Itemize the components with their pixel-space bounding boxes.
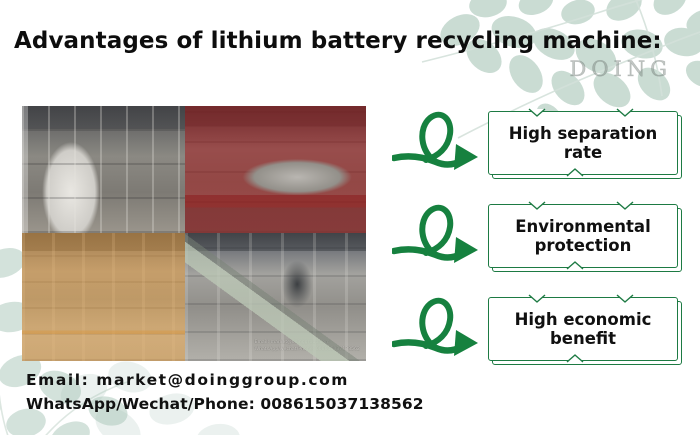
contact-email[interactable]: Email: market@doinggroup.com [26, 371, 424, 389]
advantage-row-3: High economic benefit [392, 290, 688, 383]
photo-watermark-phone: WhatsApp/wechat/Phone: 008615037138562 [255, 347, 360, 354]
page-title: Advantages of lithium battery recycling … [14, 28, 662, 54]
advantage-box-1[interactable]: High separation rate [488, 111, 680, 177]
advantage-box-2[interactable]: Environmental protection [488, 204, 680, 270]
brand-watermark: DOING [570, 57, 673, 81]
advantage-label: High economic benefit [489, 310, 677, 348]
collage-photo-rotary-drum-on-truck [185, 106, 366, 233]
collage-photo-conveyor-sorting-line: Email: market@doinggroup.com WhatsApp/we… [185, 233, 366, 361]
collage-photo-workshop-equipment-left [22, 106, 185, 233]
curly-loop-arrow-icon [392, 296, 484, 368]
advantage-label: High separation rate [489, 124, 677, 162]
contact-phone[interactable]: WhatsApp/Wechat/Phone: 008615037138562 [26, 395, 424, 413]
photo-collage: Email: market@doinggroup.com WhatsApp/we… [22, 106, 366, 361]
advantage-list: High separation rate Environmental prote… [392, 104, 688, 383]
advantage-box-face[interactable]: High separation rate [488, 111, 678, 175]
slide-canvas: DOING [0, 0, 700, 435]
photo-watermark: Email: market@doinggroup.com WhatsApp/we… [255, 340, 360, 354]
curly-loop-arrow-icon [392, 110, 484, 182]
advantage-row-2: Environmental protection [392, 197, 688, 290]
advantage-box-3[interactable]: High economic benefit [488, 297, 680, 363]
advantage-row-1: High separation rate [392, 104, 688, 197]
curly-loop-arrow-icon [392, 203, 484, 275]
advantage-box-face[interactable]: Environmental protection [488, 204, 678, 268]
collage-photo-factory-hall-production-line [22, 233, 185, 361]
advantage-box-face[interactable]: High economic benefit [488, 297, 678, 361]
advantage-label: Environmental protection [489, 217, 677, 255]
photo-watermark-email: Email: market@doinggroup.com [255, 340, 360, 347]
contact-block: Email: market@doinggroup.com WhatsApp/We… [26, 371, 424, 413]
